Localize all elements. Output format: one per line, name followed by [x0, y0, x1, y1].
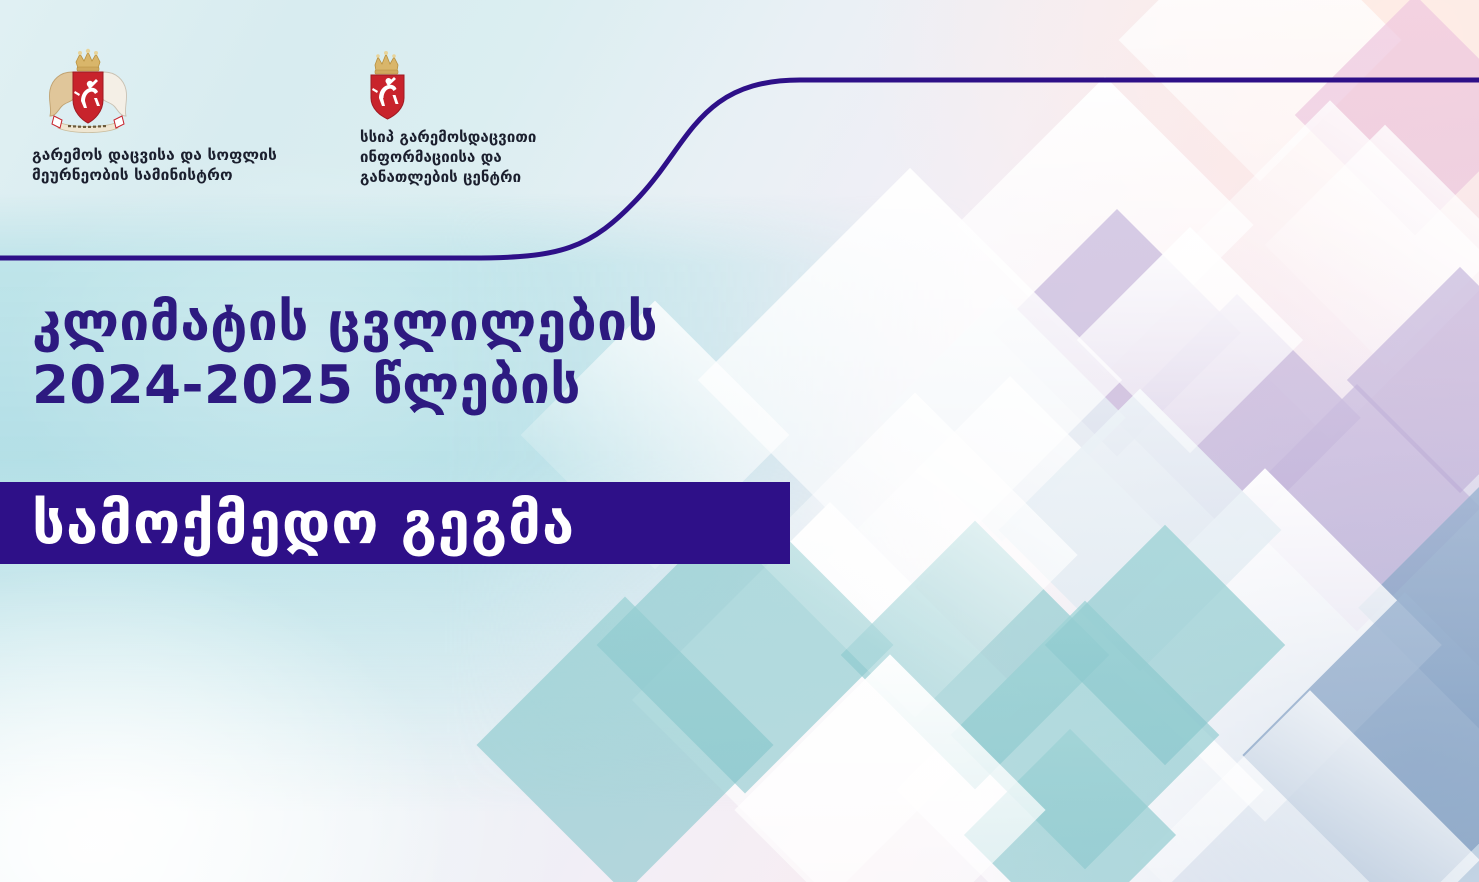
title-line-1: კლიმატის ცვლილების [32, 292, 852, 355]
ministry-name-line-1: გარემოს დაცვისა და სოფლის [32, 146, 294, 166]
ministry-name: გარემოს დაცვისა და სოფლის მეურნეობის სამ… [32, 146, 294, 186]
subtitle-banner: სამოქმედო გეგმა [0, 482, 790, 564]
center-logo-block: სსიპ გარემოსდაცვითი ინფორმაციისა და განა… [360, 48, 610, 187]
center-name-line-1: სსიპ გარემოსდაცვითი [360, 128, 600, 148]
georgia-shield-crown-icon [360, 48, 418, 120]
center-name: სსიპ გარემოსდაცვითი ინფორმაციისა და განა… [360, 128, 600, 187]
cover-title: კლიმატის ცვლილების 2024-2025 წლების [32, 292, 852, 417]
title-line-2: 2024-2025 წლების [32, 355, 852, 418]
subtitle-banner-text: სამოქმედო გეგმა [0, 494, 575, 552]
ministry-name-line-2: მეურნეობის სამინისტრო [32, 166, 294, 186]
ministry-logo-block: გარემოს დაცვისა და სოფლის მეურნეობის სამ… [32, 46, 302, 186]
georgia-coat-of-arms-icon [32, 46, 144, 138]
header-logos: გარემოს დაცვისა და სოფლის მეურნეობის სამ… [0, 0, 660, 210]
report-cover: გარემოს დაცვისა და სოფლის მეურნეობის სამ… [0, 0, 1479, 882]
center-name-line-3: განათლების ცენტრი [360, 168, 600, 188]
center-name-line-2: ინფორმაციისა და [360, 148, 600, 168]
